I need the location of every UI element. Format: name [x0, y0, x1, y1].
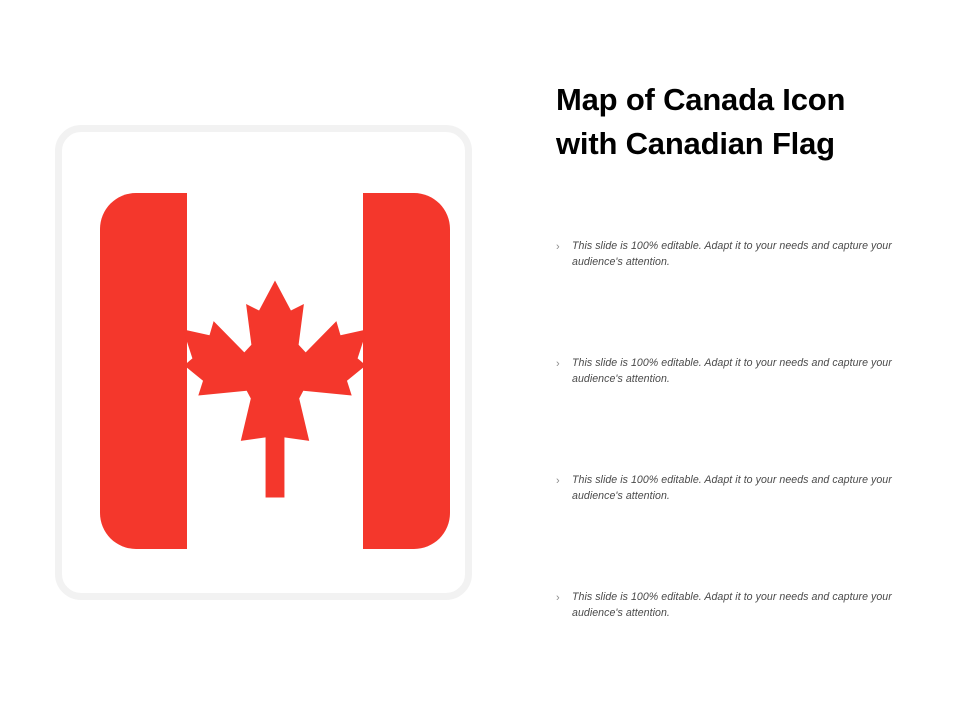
list-item-text: This slide is 100% editable. Adapt it to… — [572, 238, 928, 270]
list-item: › This slide is 100% editable. Adapt it … — [556, 238, 928, 355]
chevron-right-icon: › — [556, 238, 572, 256]
canada-flag-icon — [100, 193, 450, 549]
page-title: Map of Canada Icon with Canadian Flag — [556, 78, 922, 166]
list-item-text: This slide is 100% editable. Adapt it to… — [572, 355, 928, 387]
list-item: › This slide is 100% editable. Adapt it … — [556, 472, 928, 589]
icon-card — [55, 125, 472, 600]
canada-flag-svg — [100, 193, 450, 549]
list-item-text: This slide is 100% editable. Adapt it to… — [572, 589, 928, 621]
list-item-text: This slide is 100% editable. Adapt it to… — [572, 472, 928, 504]
chevron-right-icon: › — [556, 355, 572, 373]
chevron-right-icon: › — [556, 472, 572, 490]
slide-canvas: Map of Canada Icon with Canadian Flag › … — [0, 0, 960, 720]
bullet-list: › This slide is 100% editable. Adapt it … — [556, 238, 928, 706]
chevron-right-icon: › — [556, 589, 572, 607]
list-item: › This slide is 100% editable. Adapt it … — [556, 355, 928, 472]
content-column: Map of Canada Icon with Canadian Flag — [556, 78, 922, 166]
list-item: › This slide is 100% editable. Adapt it … — [556, 589, 928, 706]
